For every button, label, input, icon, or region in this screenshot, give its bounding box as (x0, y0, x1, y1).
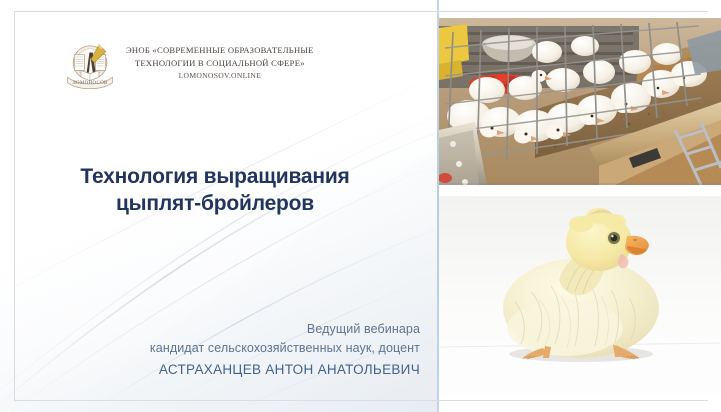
photo-broiler-chicks-in-cage (439, 18, 721, 185)
presenter-full-name: АСТРАХАНЦЕВ АНТОН АНАТОЛЬЕВИЧ (30, 359, 420, 380)
lomonosov-crest-icon: ЛОМОНОСОВ (62, 38, 118, 94)
organization-name-text: ЭНОБ «СОВРЕМЕННЫЕ ОБРАЗОВАТЕЛЬНЫЕ ТЕХНОЛ… (126, 36, 314, 82)
presenter-role-label: Ведущий вебинара (30, 320, 420, 339)
slide-left-panel: ЛОМОНОСОВ ЭНОБ «СОВРЕМЕННЫЕ ОБРАЗОВАТЕЛЬ… (0, 0, 438, 412)
slide-right-panel (439, 0, 721, 412)
title-line-2: цыплят-бройлеров (30, 190, 400, 217)
organization-header: ЛОМОНОСОВ ЭНОБ «СОВРЕМЕННЫЕ ОБРАЗОВАТЕЛЬ… (62, 36, 314, 94)
org-name-line-2: ТЕХНОЛОГИИ В СОЦИАЛЬНОЙ СФЕРЕ» (126, 57, 314, 70)
org-name-line-1: ЭНОБ «СОВРЕМЕННЫЕ ОБРАЗОВАТЕЛЬНЫЕ (126, 44, 314, 57)
presentation-slide: ЛОМОНОСОВ ЭНОБ «СОВРЕМЕННЫЕ ОБРАЗОВАТЕЛЬ… (0, 0, 721, 412)
title-line-1: Технология выращивания (30, 163, 400, 190)
panel-divider-line (437, 0, 439, 412)
presenter-degree-label: кандидат сельскохозяйственных наук, доце… (30, 339, 420, 358)
svg-text:ЛОМОНОСОВ: ЛОМОНОСОВ (72, 80, 108, 86)
presenter-info: Ведущий вебинара кандидат сельскохозяйст… (30, 320, 420, 380)
org-website-url: LOMONOSOV.ONLINE (126, 70, 314, 82)
slide-title: Технология выращивания цыплят-бройлеров (30, 163, 400, 217)
photo-single-broiler-chick (439, 196, 721, 393)
